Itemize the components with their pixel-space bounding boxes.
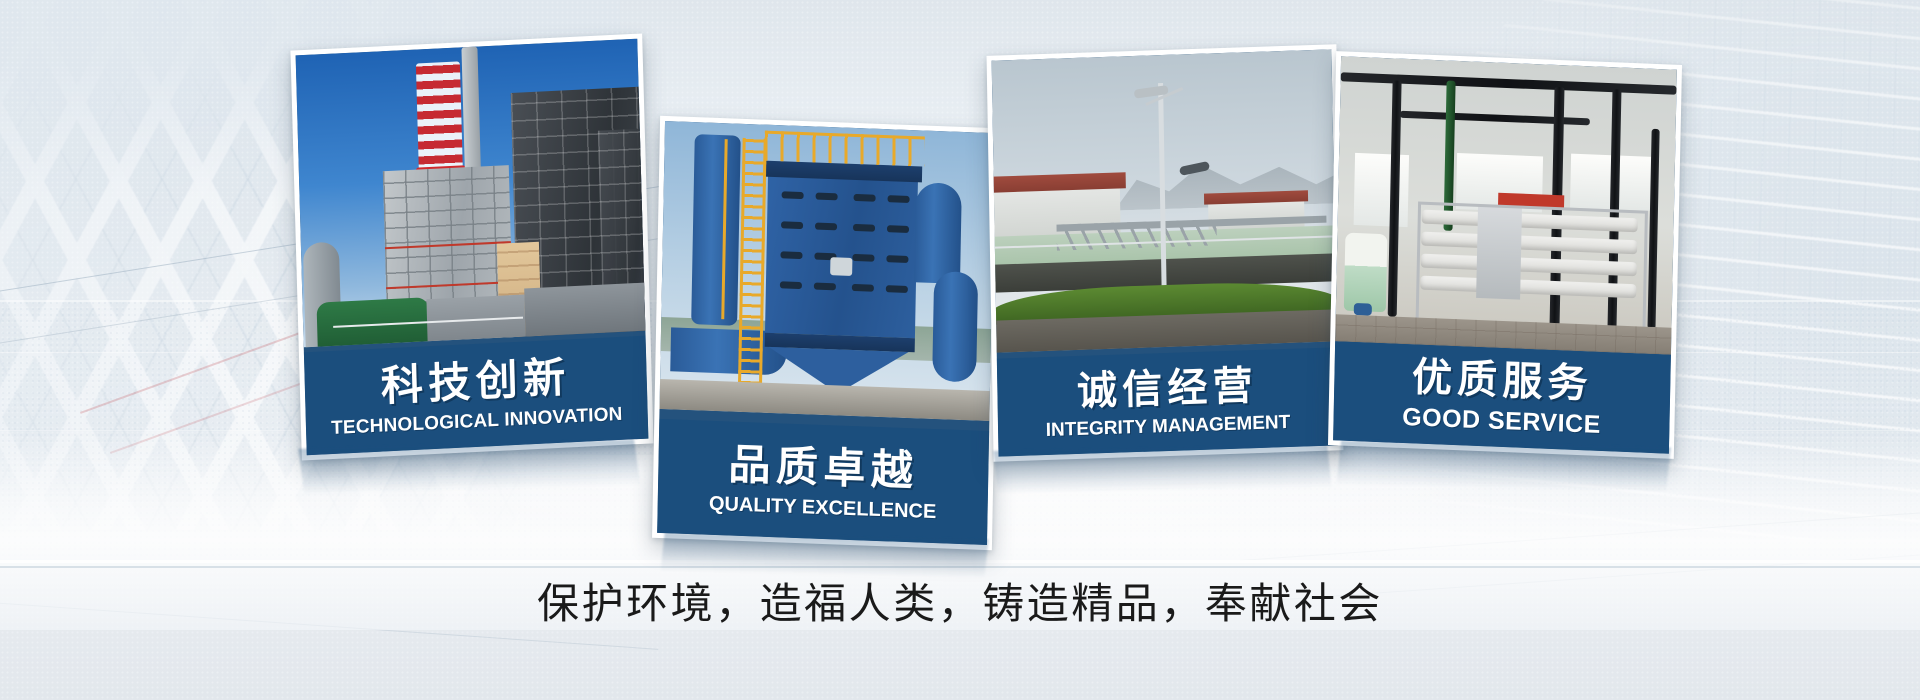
banner-stage: 科技创新 TECHNOLOGICAL INNOVATION bbox=[0, 0, 1920, 700]
scraper-bridge-truss bbox=[1056, 219, 1216, 250]
feature-card-good-service[interactable]: 优质服务 GOOD SERVICE bbox=[1328, 51, 1682, 459]
pulse-valve bbox=[887, 225, 909, 233]
pulse-valve bbox=[886, 285, 908, 293]
card-reflection-3 bbox=[993, 445, 1333, 505]
card-label-band: 品质卓越 QUALITY EXCELLENCE bbox=[657, 419, 989, 545]
pulse-valve bbox=[781, 221, 803, 229]
card-photo-ro-system bbox=[1335, 56, 1677, 354]
card-label-band: 诚信经营 INTEGRITY MANAGEMENT bbox=[997, 347, 1339, 456]
card-inner: 诚信经营 INTEGRITY MANAGEMENT bbox=[992, 49, 1339, 456]
card-photo-industrial-stack bbox=[296, 39, 646, 348]
card-title-cn: 优质服务 bbox=[1412, 357, 1594, 404]
pulse-valve bbox=[782, 191, 804, 199]
stainless-skid-frame bbox=[1416, 201, 1648, 334]
card-photo-wastewater-plant bbox=[992, 49, 1337, 352]
pulse-valve bbox=[815, 223, 837, 231]
outlet-duct bbox=[914, 182, 962, 284]
card-title-cn: 品质卓越 bbox=[728, 443, 919, 492]
dosing-pump bbox=[1354, 303, 1372, 316]
card-photo-baghouse bbox=[660, 121, 995, 421]
window bbox=[1354, 153, 1409, 227]
card-title-cn: 诚信经营 bbox=[1077, 365, 1258, 411]
pulse-valve bbox=[854, 194, 876, 202]
striped-chimney bbox=[416, 61, 463, 171]
banner-tagline: 保护环境，造福人类，铸造精品，奉献社会 bbox=[0, 583, 1920, 625]
feature-card-integrity-management[interactable]: 诚信经营 INTEGRITY MANAGEMENT bbox=[987, 44, 1344, 462]
chemical-dosing-tank bbox=[1344, 233, 1388, 313]
card-label-band: 优质服务 GOOD SERVICE bbox=[1333, 341, 1671, 453]
grey-equipment-box-2 bbox=[524, 283, 645, 341]
feature-card-technological-innovation[interactable]: 科技创新 TECHNOLOGICAL INNOVATION bbox=[290, 33, 653, 460]
control-box bbox=[830, 257, 852, 276]
card-inner: 科技创新 TECHNOLOGICAL INNOVATION bbox=[296, 39, 649, 456]
pulse-valve bbox=[816, 193, 838, 201]
pulse-valve bbox=[814, 283, 836, 291]
card-title-en: TECHNOLOGICAL INNOVATION bbox=[331, 404, 623, 437]
pulse-valve bbox=[780, 251, 802, 259]
pulse-valve bbox=[886, 255, 908, 263]
card-reflection-4 bbox=[1335, 441, 1671, 504]
card-title-cn: 科技创新 bbox=[380, 356, 571, 407]
pulse-valve bbox=[852, 284, 874, 292]
pulse-valve bbox=[852, 254, 874, 262]
pulse-valve bbox=[853, 224, 875, 232]
card-label-band: 科技创新 TECHNOLOGICAL INNOVATION bbox=[304, 336, 649, 456]
pulse-valve bbox=[780, 281, 802, 289]
top-rail-balusters bbox=[764, 131, 924, 167]
card-inner: 品质卓越 QUALITY EXCELLENCE bbox=[657, 121, 995, 545]
card-title-en: INTEGRITY MANAGEMENT bbox=[1046, 412, 1291, 439]
card-reflection-1 bbox=[298, 439, 642, 506]
card-inner: 优质服务 GOOD SERVICE bbox=[1333, 56, 1677, 453]
feature-card-quality-excellence[interactable]: 品质卓越 QUALITY EXCELLENCE bbox=[652, 116, 1000, 550]
outlet-duct-lower bbox=[932, 271, 978, 383]
pulse-valve bbox=[888, 195, 910, 203]
inlet-duct-vertical bbox=[691, 134, 741, 326]
card-title-en: QUALITY EXCELLENCE bbox=[709, 493, 937, 521]
card-title-en: GOOD SERVICE bbox=[1402, 405, 1601, 438]
